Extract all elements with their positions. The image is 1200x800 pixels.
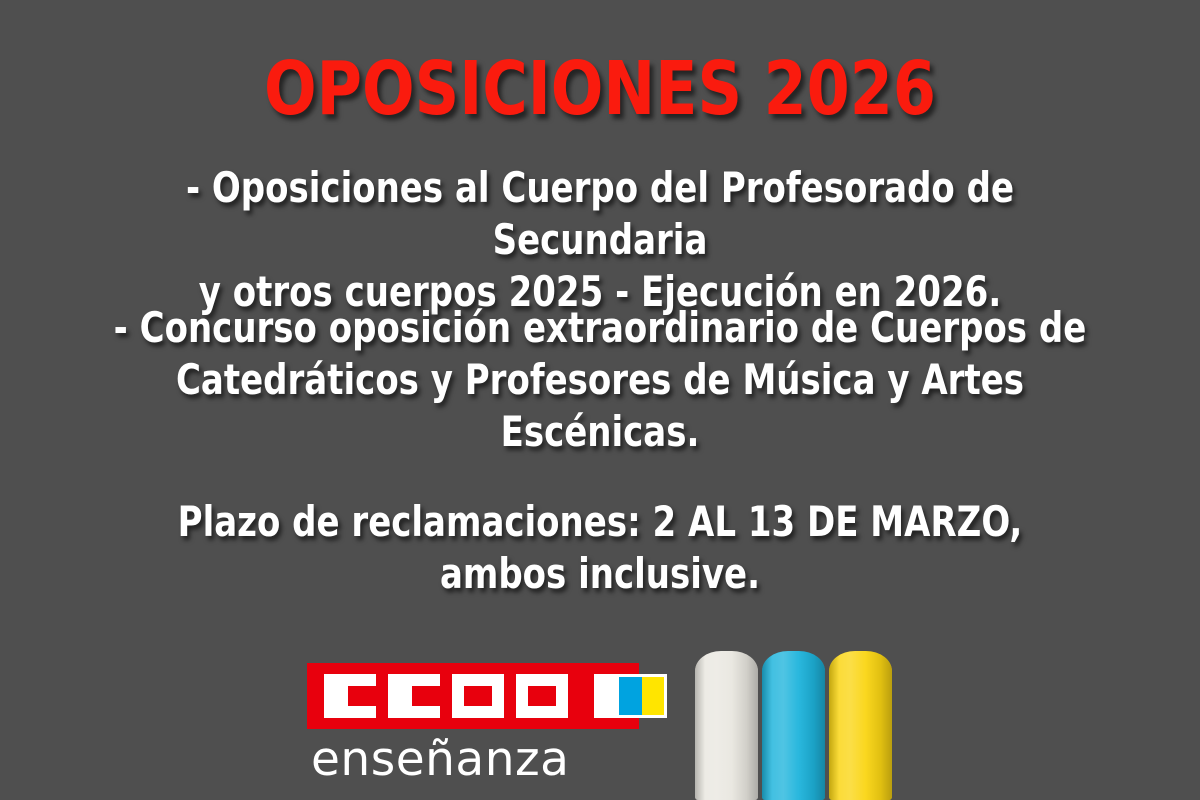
ccoo-ensenanza-logo: enseñanza: [307, 663, 639, 784]
announcement-paragraph-3: Plazo de reclamaciones: 2 AL 13 DE MARZO…: [91, 496, 1110, 600]
flag-stripe-white: [597, 677, 619, 715]
paragraph-2-line-3: Escénicas.: [91, 406, 1110, 458]
flag-stripe-blue: [619, 677, 641, 715]
paragraph-1-line-1: - Oposiciones al Cuerpo del Profesorado …: [91, 162, 1110, 266]
ccoo-letter-c-1-icon: [324, 674, 376, 718]
logo-subtitle: enseñanza: [307, 735, 639, 784]
ccoo-letter-o-1-icon: [452, 674, 504, 718]
announcement-paragraph-2: - Concurso oposición extraordinario de C…: [91, 302, 1110, 458]
flag-stripe-yellow: [642, 677, 664, 715]
canary-islands-flag-icon: [594, 674, 667, 718]
page-title: OPOSICIONES 2026: [42, 52, 1158, 126]
ccoo-wordmark: [307, 663, 639, 729]
poster-canvas: OPOSICIONES 2026 - Oposiciones al Cuerpo…: [0, 0, 1200, 800]
paragraph-3-line-1: Plazo de reclamaciones: 2 AL 13 DE MARZO…: [91, 496, 1110, 548]
chalk-sticks-image: [695, 651, 895, 800]
paragraph-3-line-2: ambos inclusive.: [91, 548, 1110, 600]
chalk-stick-blue: [762, 651, 825, 800]
chalk-stick-white: [695, 651, 758, 800]
paragraph-2-line-1: - Concurso oposición extraordinario de C…: [91, 302, 1110, 354]
chalk-stick-yellow: [829, 651, 892, 800]
ccoo-letter-o-2-icon: [516, 674, 568, 718]
announcement-paragraph-1: - Oposiciones al Cuerpo del Profesorado …: [91, 162, 1110, 318]
paragraph-2-line-2: Catedráticos y Profesores de Música y Ar…: [91, 354, 1110, 406]
ccoo-letter-c-2-icon: [388, 674, 440, 718]
